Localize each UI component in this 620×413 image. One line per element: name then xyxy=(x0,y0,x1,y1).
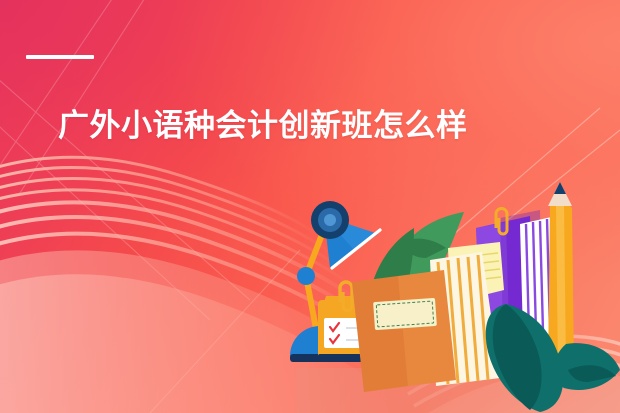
page-title: 广外小语种会计创新班怎么样 xyxy=(58,105,488,147)
lamp-joint-icon xyxy=(297,267,315,285)
accent-rule xyxy=(26,55,94,59)
promo-banner: 广外小语种会计创新班怎么样 xyxy=(0,0,620,413)
study-desk-illustration xyxy=(268,172,620,413)
orange-notebook-icon xyxy=(352,270,456,392)
